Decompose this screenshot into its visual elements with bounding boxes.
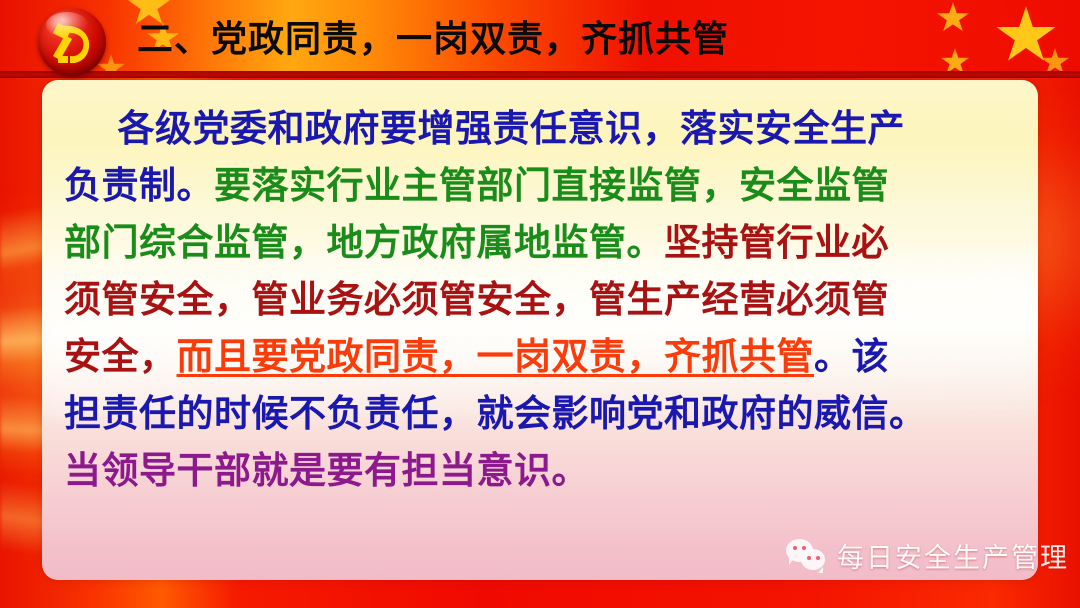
star-icon <box>936 2 970 34</box>
party-emblem-hammer-sickle-icon <box>38 8 106 76</box>
body-line: 安全，而且要党政同责，一岗双责，齐抓共管。该 <box>64 328 1016 385</box>
body-line: 部门综合监管，地方政府属地监管。坚持管行业必 <box>64 214 1016 271</box>
page-title: 二、党政同责，一岗双责，齐抓共管 <box>137 12 729 68</box>
wechat-icon <box>786 539 828 573</box>
content-card: 各级党委和政府要增强责任意识，落实安全生产负责制。要落实行业主管部门直接监管，安… <box>42 80 1038 580</box>
body-text-segment: 当领导干部就是要有担当意识。 <box>64 449 589 492</box>
body-line: 须管安全，管业务必须管安全，管生产经营必须管 <box>64 271 1016 328</box>
body-text-segment: 须管安全，管业务必须管安全，管生产经营必须管 <box>64 278 889 321</box>
star-icon <box>995 6 1057 66</box>
body-line: 各级党委和政府要增强责任意识，落实安全生产 <box>64 100 1016 157</box>
body-text-segment: 要落实行业主管部门直接监管，安全监管 <box>214 164 889 207</box>
body-paragraph: 各级党委和政府要增强责任意识，落实安全生产负责制。要落实行业主管部门直接监管，安… <box>64 100 1016 499</box>
body-text-segment: 安全， <box>64 335 177 378</box>
watermark-label: 每日安全生产管理 <box>837 536 1069 575</box>
body-text-segment: 负责制。 <box>64 164 214 207</box>
emblem-gloss <box>46 12 88 38</box>
body-text-segment: 各级党委和政府要增强责任意识，落实安全生产 <box>64 107 905 150</box>
star-icon <box>940 48 970 76</box>
body-line: 负责制。要落实行业主管部门直接监管，安全监管 <box>64 157 1016 214</box>
body-text-segment: 部门综合监管，地方政府属地监管。 <box>64 221 664 264</box>
body-line: 当领导干部就是要有担当意识。 <box>64 442 1016 499</box>
body-text-segment: 而且要党政同责，一岗双责，齐抓共管 <box>177 335 815 378</box>
watermark: 每日安全生产管理 <box>786 536 1069 575</box>
body-text-segment: 担责任的时候不负责任，就会影响党和政府的威信。 <box>64 392 927 435</box>
body-text-segment: 。该 <box>814 335 889 378</box>
body-text-segment: 坚持管行业必 <box>664 221 889 264</box>
body-line: 担责任的时候不负责任，就会影响党和政府的威信。 <box>64 385 1016 442</box>
star-icon <box>1040 48 1070 76</box>
slide-root: 二、党政同责，一岗双责，齐抓共管 各级党委和政府要增强责任意识，落实安全生产负责… <box>0 0 1080 608</box>
